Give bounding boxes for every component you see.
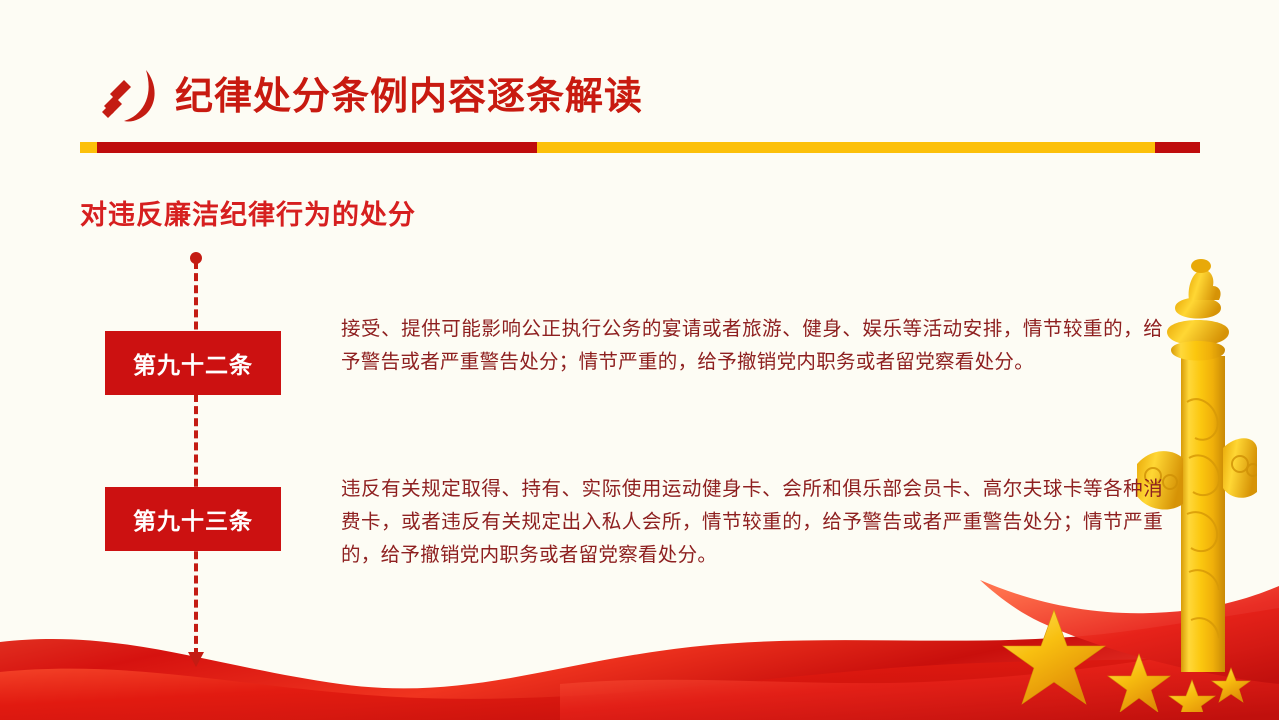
article-body-text: 接受、提供可能影响公正执行公务的宴请或者旅游、健身、娱乐等活动安排，情节较重的，… xyxy=(341,312,1163,378)
timeline-arrow-icon xyxy=(188,652,204,667)
article-tag-badge[interactable]: 第九十三条 xyxy=(105,487,281,551)
slide-root: 纪律处分条例内容逐条解读 对违反廉洁纪律行为的处分 第九十二条 接受、提供可能影… xyxy=(0,0,1279,720)
article-body-text: 违反有关规定取得、持有、实际使用运动健身卡、会所和俱乐部会员卡、高尔夫球卡等各种… xyxy=(341,472,1163,571)
slide-header: 纪律处分条例内容逐条解读 xyxy=(0,0,1279,170)
page-title: 纪律处分条例内容逐条解读 xyxy=(175,70,643,122)
divider-red-cap xyxy=(1155,142,1200,153)
timeline-dashed-line xyxy=(194,261,198,656)
divider-red-bar xyxy=(97,142,537,153)
header-divider xyxy=(80,142,1200,153)
golden-stars-icon xyxy=(989,602,1259,712)
section-heading: 对违反廉洁纪律行为的处分 xyxy=(80,193,416,232)
hammer-and-sickle-icon xyxy=(98,66,164,128)
dashed-arrow-timeline-icon xyxy=(188,252,204,672)
article-tag-badge[interactable]: 第九十二条 xyxy=(105,331,281,395)
